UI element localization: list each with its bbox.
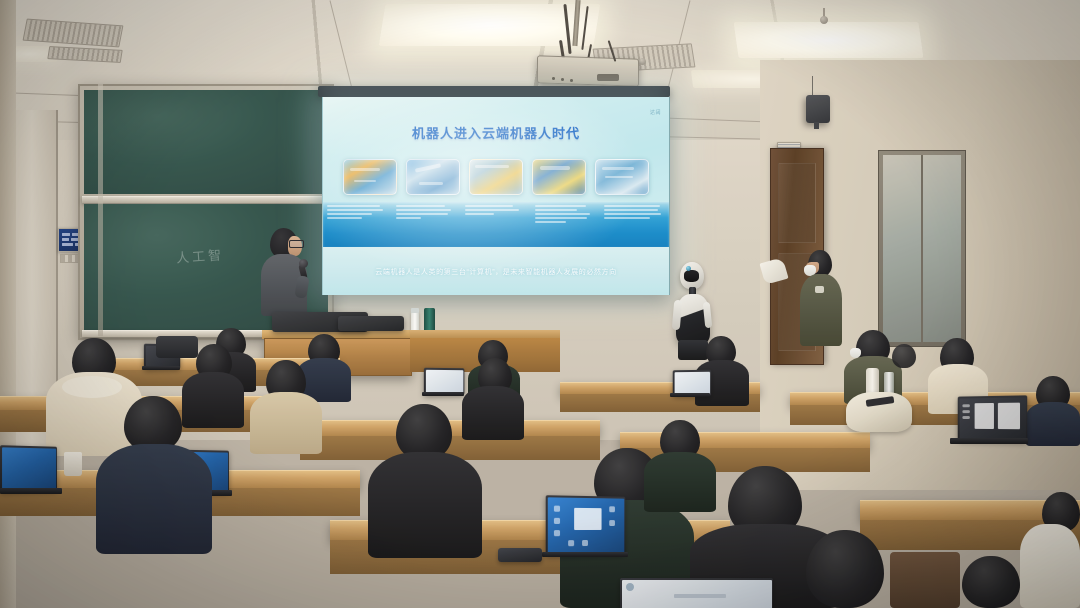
laptop-screen [958, 395, 1028, 441]
laptop-base [950, 438, 1028, 444]
laptop-base [0, 488, 62, 494]
laptop-base [142, 366, 180, 370]
app-icon[interactable] [582, 539, 588, 545]
blackboard-divider [98, 84, 103, 336]
slide-card-1 [343, 159, 397, 195]
projection-screen: 机器人进入云端机器人时代 达闼 [322, 97, 670, 295]
sprinkler-head [820, 16, 828, 24]
tablet-display[interactable] [547, 497, 624, 554]
tablet-stand [542, 552, 628, 557]
text-line [674, 594, 726, 598]
app-icon [626, 583, 634, 591]
caption-line [396, 205, 445, 207]
caption-line [396, 213, 448, 215]
caption-line [396, 217, 420, 219]
door-panel-upper [778, 163, 816, 243]
robot-eye [686, 266, 691, 271]
slide-content: 机器人进入云端机器人时代 达闼 [323, 97, 669, 295]
notice-cell [62, 238, 69, 241]
caption-line [327, 205, 380, 207]
audience-head [806, 530, 884, 608]
app-window[interactable] [574, 507, 601, 529]
face-mask [850, 348, 861, 358]
caption-line [327, 213, 372, 215]
slide-card-4 [532, 159, 586, 195]
window-mullion [921, 155, 923, 342]
chair-back [156, 336, 198, 358]
laptop-display [425, 369, 463, 393]
caption-line [465, 209, 519, 211]
audience-body [182, 372, 244, 428]
ceiling-light-panel [733, 22, 923, 58]
robot-base [678, 340, 708, 360]
caption-line [327, 217, 362, 219]
slide-logo: 达闼 [650, 109, 661, 116]
caption-line [465, 205, 513, 207]
slide-card-2 [406, 159, 460, 195]
caption-column-4 [531, 202, 600, 247]
laptop-display [2, 447, 56, 490]
podium-equipment [338, 316, 404, 331]
audience-body [96, 444, 212, 554]
app-icon[interactable] [553, 517, 559, 523]
audience-body [368, 452, 482, 558]
sidebar-item [962, 416, 969, 419]
caption-column-3 [461, 202, 530, 247]
paper-cup [64, 452, 82, 476]
laptop-base [670, 393, 710, 397]
caption-line [327, 209, 383, 211]
card-streak [540, 166, 570, 170]
slide-image-cards [332, 159, 660, 195]
standing-attendee-body [800, 274, 842, 346]
projector-indicator [570, 79, 573, 82]
app-window [974, 402, 993, 428]
notice-cell [62, 233, 70, 236]
audience-body [462, 386, 524, 440]
laptop-display [959, 397, 1026, 440]
audience-head [962, 556, 1020, 608]
app-window [997, 402, 1019, 429]
presenter-glasses [289, 240, 304, 248]
blackboard-upper-panel [84, 90, 328, 194]
card-streak [350, 168, 380, 171]
audience-body [644, 452, 716, 512]
front-desk-top [410, 330, 560, 338]
screen-housing [318, 86, 670, 97]
caption-line [465, 213, 493, 215]
projector-indicator [552, 77, 555, 80]
app-icon[interactable] [609, 506, 615, 512]
sidebar-item [962, 404, 969, 407]
card-streak [605, 176, 633, 178]
laptop-display [674, 371, 709, 394]
caption-line [535, 217, 588, 219]
caption-line [396, 209, 451, 211]
card-streak [602, 167, 634, 170]
laptop-base [422, 392, 464, 396]
left-wall-edge [0, 0, 16, 608]
caption-line [535, 221, 567, 223]
attendee-badge [815, 286, 824, 293]
caption-line [604, 209, 658, 211]
smartphone[interactable] [498, 548, 542, 562]
caption-line [604, 205, 660, 207]
notice-cell [62, 243, 73, 246]
blackboard-chalk-rail [82, 196, 330, 203]
app-icon[interactable] [553, 505, 559, 511]
audience-head [892, 344, 916, 368]
laptop-display [622, 580, 772, 608]
card-streak [354, 180, 376, 182]
laptop-screen [620, 578, 773, 608]
audience-body [250, 392, 322, 454]
card-streak [415, 163, 441, 172]
speaker-bracket [814, 122, 819, 129]
caption-line [535, 205, 586, 207]
ceiling-projector [537, 55, 639, 87]
hoodie-collar [62, 376, 122, 398]
app-icon[interactable] [568, 540, 574, 546]
caption-line [604, 217, 651, 219]
slide-caption-band [323, 202, 669, 247]
robot-visor [684, 270, 699, 282]
chair-back [890, 552, 960, 608]
card-streak [475, 165, 509, 168]
projector-indicator [561, 78, 564, 81]
microphone-head [299, 259, 308, 268]
card-streak [419, 182, 443, 185]
slide-footer-text: 云端机器人是人类的第三台“计算机”，是未来智能机器人发展的必然方向 [323, 267, 669, 277]
sidebar-item [962, 410, 969, 413]
tablet-screen[interactable] [546, 495, 626, 556]
app-icon[interactable] [609, 520, 615, 526]
slide-card-5 [595, 159, 649, 195]
laptop-screen [0, 445, 57, 492]
slide-title: 机器人进入云端机器人时代 [323, 123, 669, 142]
app-icon[interactable] [553, 530, 559, 536]
sprinkler-head [639, 58, 646, 65]
caption-column-5 [600, 202, 669, 247]
wall-speaker [806, 95, 830, 123]
lecture-hall-photo: 人工智 机器人进入云端机器人时代 达闼 [0, 0, 1080, 608]
window-frame [878, 150, 966, 347]
caption-line [604, 213, 662, 215]
audience-body [1026, 402, 1080, 446]
audience-body [1020, 524, 1080, 608]
bottle-cap [411, 308, 419, 313]
desk-row-mid-right [620, 432, 870, 449]
caption-line [535, 209, 578, 211]
caption-column-1 [323, 202, 392, 247]
chalk-writing: 人工智 [175, 244, 224, 266]
caption-line [535, 213, 590, 215]
slide-card-3 [469, 159, 523, 195]
caption-column-2 [392, 202, 461, 247]
projector-lens [597, 74, 619, 81]
